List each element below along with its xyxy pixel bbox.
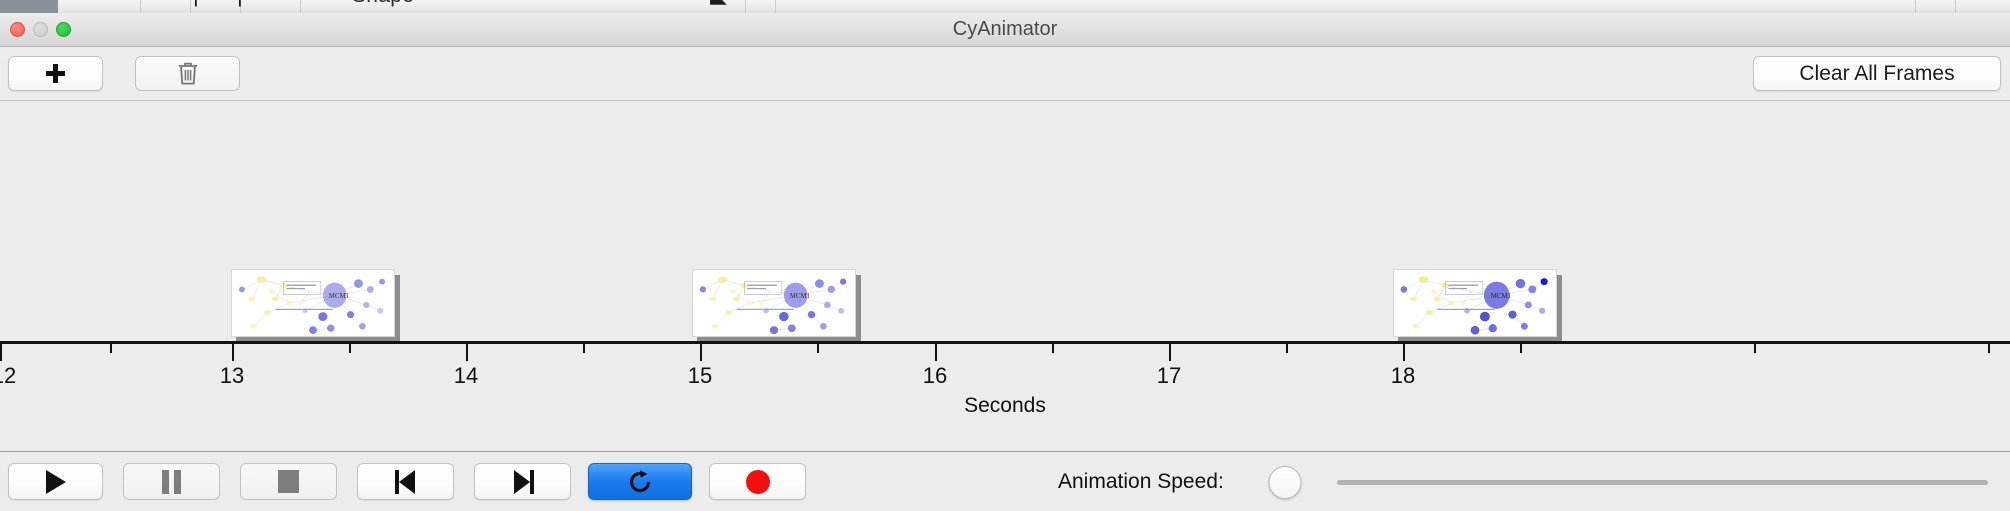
- axis-tick-major: [0, 344, 2, 361]
- stop-button[interactable]: [240, 463, 337, 500]
- bg-seam: [775, 0, 776, 13]
- frame-image: MCM1: [692, 269, 856, 337]
- trash-icon: [177, 61, 199, 86]
- frame-thumbnail-2[interactable]: MCM1: [692, 269, 856, 337]
- loop-icon: [627, 469, 653, 495]
- timeline-panel[interactable]: MCM1: [0, 101, 2010, 431]
- clear-all-frames-label: Clear All Frames: [1799, 62, 1954, 86]
- toolbar: Clear All Frames: [0, 47, 2010, 101]
- animation-speed-label: Animation Speed:: [1058, 463, 1224, 500]
- axis-tick-major: [1403, 344, 1405, 361]
- frame-image: MCM1: [231, 269, 395, 337]
- record-icon: [746, 470, 770, 494]
- axis-tick-label: 17: [1157, 363, 1181, 389]
- axis-tick-label: 18: [1391, 363, 1415, 389]
- background-window-label: Shape: [352, 0, 414, 8]
- play-button[interactable]: [8, 463, 103, 500]
- axis-tick-minor: [1988, 344, 1990, 353]
- bg-glyph: |: [193, 0, 199, 8]
- delete-frame-button[interactable]: [135, 56, 240, 91]
- skip-back-button[interactable]: [357, 463, 454, 500]
- cyanimator-window: CyAnimator Clear All Frames: [0, 13, 2010, 510]
- frame-thumbnail-1[interactable]: MCM1: [231, 269, 395, 337]
- axis-tick-minor: [110, 344, 112, 353]
- transport-bar: Animation Speed:: [0, 451, 2010, 511]
- window-title: CyAnimator: [0, 13, 2010, 46]
- axis-tick-minor: [1520, 344, 1522, 353]
- title-bar: CyAnimator: [0, 13, 2010, 47]
- axis-tick-minor: [1754, 344, 1756, 353]
- axis-tick-label: 16: [923, 363, 947, 389]
- hub-node-label: MCM1: [790, 293, 811, 300]
- axis-title: Seconds: [0, 394, 2010, 418]
- plus-icon: [46, 64, 65, 83]
- slider-thumb[interactable]: [1269, 466, 1302, 499]
- bg-seam: [190, 0, 191, 13]
- hub-node-label: MCM1: [329, 293, 350, 300]
- loop-button[interactable]: [588, 463, 692, 500]
- frame-track[interactable]: MCM1: [0, 101, 2010, 341]
- axis-tick-major: [466, 344, 468, 361]
- frame-thumbnail-3[interactable]: MCM1: [1393, 269, 1557, 337]
- pause-icon: [162, 470, 181, 494]
- play-icon: [46, 470, 66, 494]
- bg-seam: [300, 0, 301, 13]
- skip-back-icon: [395, 470, 417, 494]
- axis-line: [0, 341, 2010, 344]
- axis-tick-label: 15: [688, 363, 712, 389]
- bg-seam: [140, 0, 141, 13]
- stop-icon: [278, 470, 299, 493]
- hub-node-label: MCM1: [1491, 293, 1512, 300]
- background-window-strip: | | ◣ Shape: [0, 0, 2010, 13]
- add-frame-button[interactable]: [8, 56, 103, 91]
- bg-block: [0, 0, 58, 13]
- axis-tick-major: [700, 344, 702, 361]
- axis-tick-major: [1169, 344, 1171, 361]
- network-graph: MCM1: [693, 270, 855, 336]
- bg-glyph: |: [237, 0, 243, 8]
- clear-all-frames-button[interactable]: Clear All Frames: [1753, 56, 2001, 91]
- timeline-axis: 12 13 14 15 16 17 18: [0, 341, 2010, 399]
- axis-tick-minor: [583, 344, 585, 353]
- slider-rail[interactable]: [1337, 480, 1988, 485]
- axis-tick-label: 12: [0, 363, 16, 389]
- bg-seam: [1915, 0, 1916, 13]
- axis-tick-major: [935, 344, 937, 361]
- skip-forward-icon: [512, 470, 534, 494]
- network-graph: MCM1: [1394, 270, 1556, 336]
- axis-tick-minor: [1052, 344, 1054, 353]
- animation-speed-slider[interactable]: [1337, 480, 1988, 485]
- axis-tick-minor: [349, 344, 351, 353]
- axis-tick-minor: [817, 344, 819, 353]
- axis-tick-major: [232, 344, 234, 361]
- network-graph: MCM1: [232, 270, 394, 336]
- axis-tick-label: 13: [220, 363, 244, 389]
- bg-seam: [745, 0, 746, 13]
- axis-tick-label: 14: [454, 363, 478, 389]
- pause-button[interactable]: [123, 463, 220, 500]
- bg-seam: [1955, 0, 1956, 13]
- skip-forward-button[interactable]: [474, 463, 571, 500]
- record-button[interactable]: [709, 463, 806, 500]
- bg-glyph: ◣: [710, 0, 727, 8]
- frame-image: MCM1: [1393, 269, 1557, 337]
- axis-tick-minor: [1286, 344, 1288, 353]
